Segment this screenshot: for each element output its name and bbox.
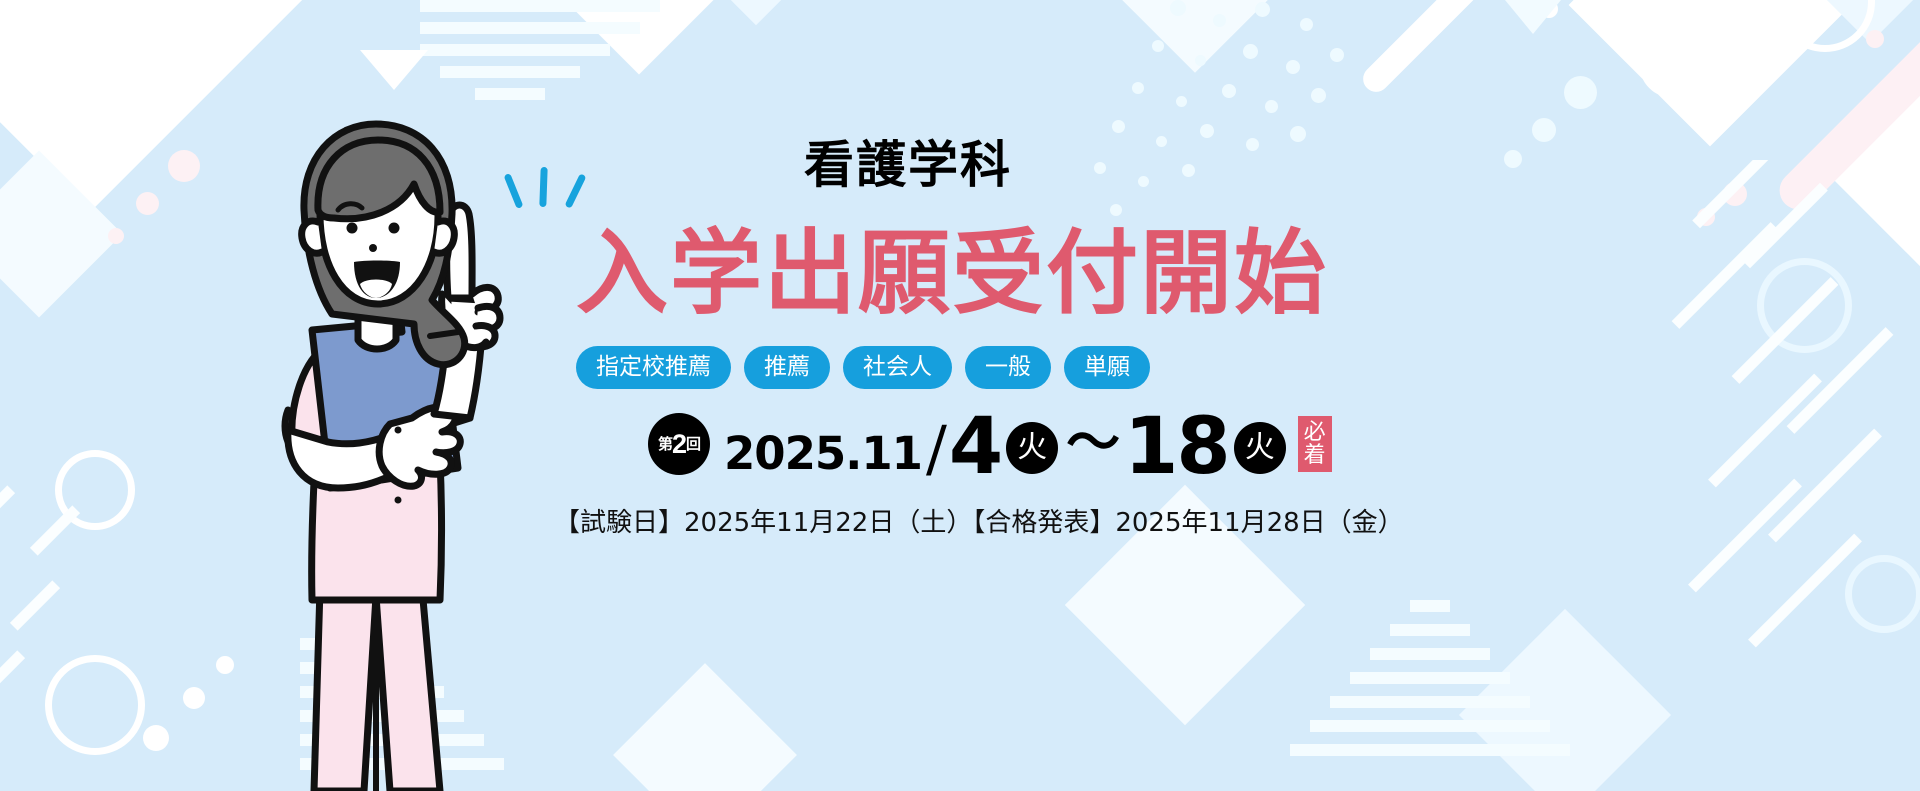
round-number: 2 (672, 431, 686, 458)
department-kicker: 看護学科 (804, 140, 1012, 190)
must-arrive-line2: 着 (1298, 443, 1332, 466)
application-period-row: 第 2 回 2025.11 / 4 火 ～ 18 火 必 着 (648, 412, 1332, 478)
decor-dot (1265, 100, 1278, 113)
decor-dot (1311, 88, 1326, 103)
year-month: 2025.11 (724, 431, 922, 476)
date-separator: / (926, 418, 947, 480)
banner-headline: 入学出願受付開始 (576, 228, 1328, 320)
decor-dot (1255, 2, 1270, 17)
decor-triangle (1505, 0, 1561, 34)
start-day: 4 (949, 412, 1001, 482)
decor-dot (1286, 60, 1300, 74)
sparkle-line (539, 167, 547, 207)
decor-ring (1640, 35, 1702, 97)
decor-dot (1170, 0, 1186, 16)
date-range-mark: ～ (1066, 416, 1120, 470)
decor-dot (1866, 30, 1884, 48)
decor-triangle (360, 50, 428, 90)
admission-type-pill[interactable]: 一般 (965, 346, 1051, 389)
decor-dot (1176, 96, 1187, 107)
decor-dot (1152, 40, 1164, 52)
decor-dot (1222, 84, 1236, 98)
admission-type-pill-row: 指定校推薦 推薦 社会人 一般 単願 (576, 346, 1150, 389)
end-day-of-week-badge: 火 (1234, 422, 1286, 474)
decor-stripes (0, 390, 290, 791)
decor-dot (108, 228, 124, 244)
decor-diamond (613, 663, 797, 791)
sparkle-line (504, 173, 524, 209)
admission-type-pill[interactable]: 社会人 (843, 346, 952, 389)
admission-type-pill[interactable]: 推薦 (744, 346, 830, 389)
round-suffix: 回 (686, 437, 700, 452)
decor-dot (1213, 14, 1226, 27)
decor-dot (1564, 76, 1597, 109)
banner-root: 看護学科 入学出願受付開始 指定校推薦 推薦 社会人 一般 単願 第 2 回 2… (0, 0, 1920, 791)
decor-dot (1300, 18, 1313, 31)
decor-bar (1358, 0, 1482, 97)
must-arrive-line1: 必 (1298, 420, 1332, 443)
admission-type-pill[interactable]: 単願 (1064, 346, 1150, 389)
start-day-of-week-badge: 火 (1006, 422, 1058, 474)
nurse-illustration (272, 118, 572, 791)
decor-dot (1195, 55, 1206, 66)
decor-staircase (420, 0, 660, 130)
decor-dot (136, 192, 159, 215)
decor-dot (168, 150, 200, 182)
round-number-badge: 第 2 回 (648, 413, 710, 475)
admission-type-pill[interactable]: 指定校推薦 (576, 346, 731, 389)
decor-dot (1132, 82, 1144, 94)
decor-dot (1330, 48, 1344, 62)
banner-content: 看護学科 入学出願受付開始 指定校推薦 推薦 社会人 一般 単願 第 2 回 2… (548, 130, 1608, 660)
end-day: 18 (1124, 412, 1229, 482)
decor-stripes (1620, 160, 1920, 680)
must-arrive-badge: 必 着 (1298, 416, 1332, 472)
round-prefix: 第 (658, 437, 672, 452)
decor-dot (1243, 44, 1258, 59)
exam-and-result-note: 【試験日】2025年11月22日（土）【合格発表】2025年11月28日（金） (554, 502, 1404, 539)
